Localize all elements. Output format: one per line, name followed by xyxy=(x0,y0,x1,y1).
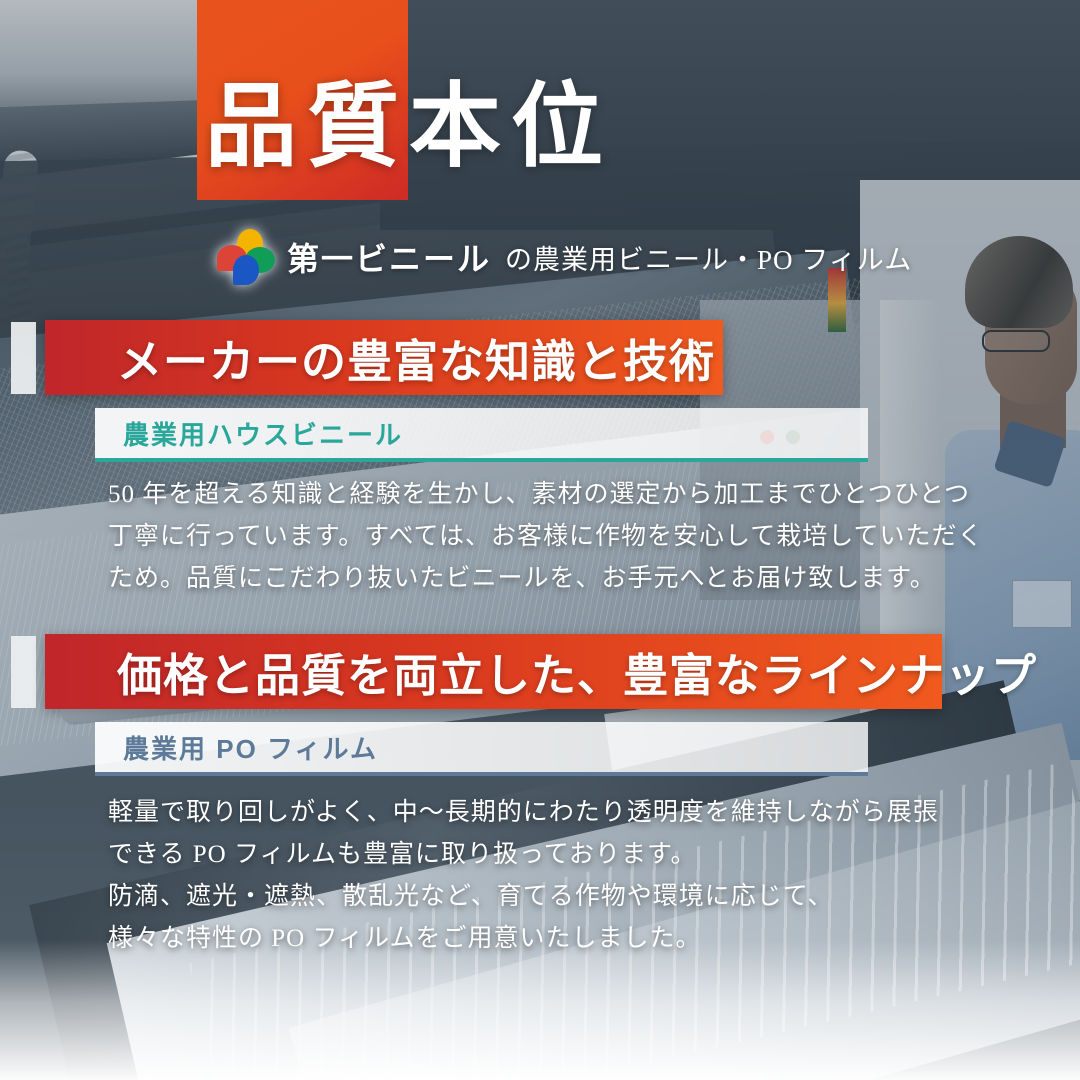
section-sublabel-1-text: 農業用ハウスビニール xyxy=(95,415,403,452)
section-sublabel-2: 農業用 PO フィルム xyxy=(95,722,868,776)
hero-title: 品質本位 xyxy=(205,72,965,182)
section-body-1-line-3: ため。品質にこだわり抜いたビニールを、お手元へとお届け致します。 xyxy=(108,558,938,600)
section-body-2-line-3: 防滴、遮光・遮熱、散乱光など、育てる作物や環境に応じて、 xyxy=(108,876,938,918)
logo-petal-blue xyxy=(233,255,259,285)
section-body-1-line-1: 50 年を超える知識と経験を生かし、素材の選定から加工までひとつひとつ xyxy=(108,474,938,516)
section-body-2-line-2: できる PO フィルムも豊富に取り扱っております。 xyxy=(108,834,938,876)
section-sublabel-2-text: 農業用 PO フィルム xyxy=(95,729,378,766)
section-body-1: 50 年を超える知識と経験を生かし、素材の選定から加工までひとつひとつ 丁寧に行… xyxy=(108,474,938,600)
section-banner-1-text: メーカーの豊富な知識と技術 xyxy=(45,325,715,390)
section-banner-2-text: 価格と品質を両立した、豊富なラインナップ xyxy=(45,639,1037,704)
accent-bar-section-1 xyxy=(11,322,36,394)
brand-line: 第一ビニール の農業用ビニール・PO フィルム xyxy=(217,228,912,286)
section-banner-2: 価格と品質を両立した、豊富なラインナップ xyxy=(45,634,942,709)
section-sublabel-1: 農業用ハウスビニール xyxy=(95,408,868,462)
accent-bar-section-2 xyxy=(11,636,36,708)
promo-banner-root: 品質本位 第一ビニール の農業用ビニール・PO フィルム メーカーの豊富な知識と… xyxy=(0,0,1080,1080)
brand-tagline: の農業用ビニール・PO フィルム xyxy=(505,238,912,277)
section-body-2-line-1: 軽量で取り回しがよく、中〜長期的にわたり透明度を維持しながら展張 xyxy=(108,792,938,834)
content-layer: 品質本位 第一ビニール の農業用ビニール・PO フィルム メーカーの豊富な知識と… xyxy=(0,0,1080,1080)
section-body-2: 軽量で取り回しがよく、中〜長期的にわたり透明度を維持しながら展張 できる PO … xyxy=(108,792,938,960)
section-body-2-line-4: 様々な特性の PO フィルムをご用意いたしました。 xyxy=(108,918,938,960)
section-body-1-line-2: 丁寧に行っています。すべては、お客様に作物を安心して栽培していただく xyxy=(108,516,938,558)
section-banner-1: メーカーの豊富な知識と技術 xyxy=(45,320,723,395)
brand-name: 第一ビニール xyxy=(287,234,491,280)
four-petal-flower-logo-icon xyxy=(217,229,273,285)
